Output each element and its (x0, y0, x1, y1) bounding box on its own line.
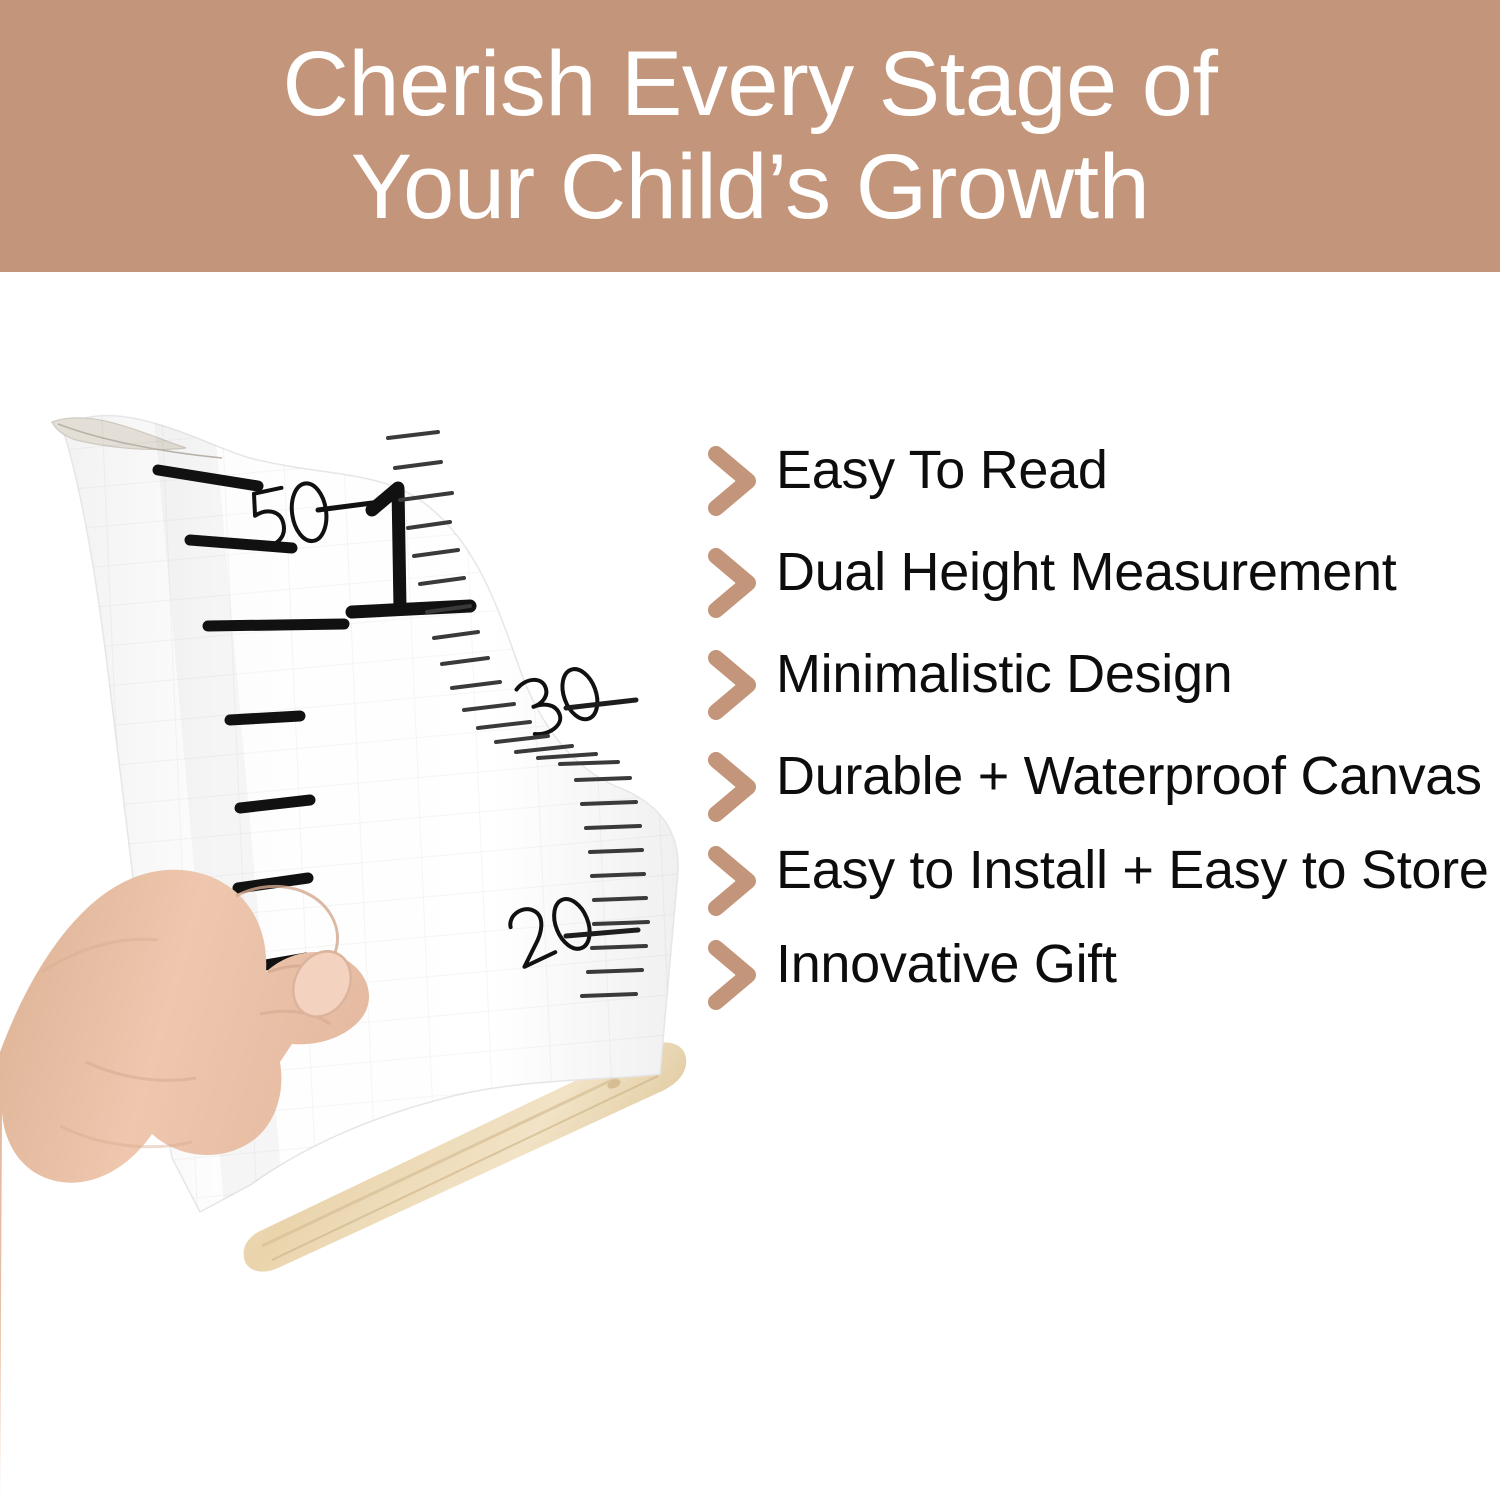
chevron-right-icon (706, 752, 758, 822)
feature-item-innovative-gift[interactable]: Innovative Gift (706, 934, 1496, 1010)
feature-label: Dual Height Measurement (776, 542, 1396, 602)
chevron-right-icon (706, 548, 758, 618)
feature-item-minimalistic-design[interactable]: Minimalistic Design (706, 644, 1496, 720)
growth-chart-illustration (0, 272, 700, 1500)
chevron-right-icon (706, 846, 758, 916)
page-title-line-2: Your Child’s Growth (351, 136, 1149, 239)
chevron-right-icon (706, 446, 758, 516)
chevron-right-icon (706, 650, 758, 720)
feature-item-durable-waterproof-canvas[interactable]: Durable + Waterproof Canvas (706, 746, 1496, 822)
feature-label: Innovative Gift (776, 934, 1117, 994)
hand (0, 870, 369, 1500)
product-feature-graphic: Cherish Every Stage of Your Child’s Grow… (0, 0, 1500, 1500)
feature-list: Easy To Read Dual Height Measurement Min… (706, 440, 1496, 1028)
product-photo (0, 272, 700, 1500)
feature-item-easy-to-read[interactable]: Easy To Read (706, 440, 1496, 516)
feature-label: Easy To Read (776, 440, 1108, 500)
chevron-right-icon (706, 940, 758, 1010)
feature-item-easy-to-install-and-store[interactable]: Easy to Install + Easy to Store (706, 840, 1496, 916)
feature-label: Minimalistic Design (776, 644, 1232, 704)
page-title-line-1: Cherish Every Stage of (282, 33, 1217, 136)
feature-label: Durable + Waterproof Canvas (776, 746, 1482, 806)
feature-item-dual-height-measurement[interactable]: Dual Height Measurement (706, 542, 1496, 618)
header-banner: Cherish Every Stage of Your Child’s Grow… (0, 0, 1500, 272)
feature-label: Easy to Install + Easy to Store (776, 840, 1489, 900)
